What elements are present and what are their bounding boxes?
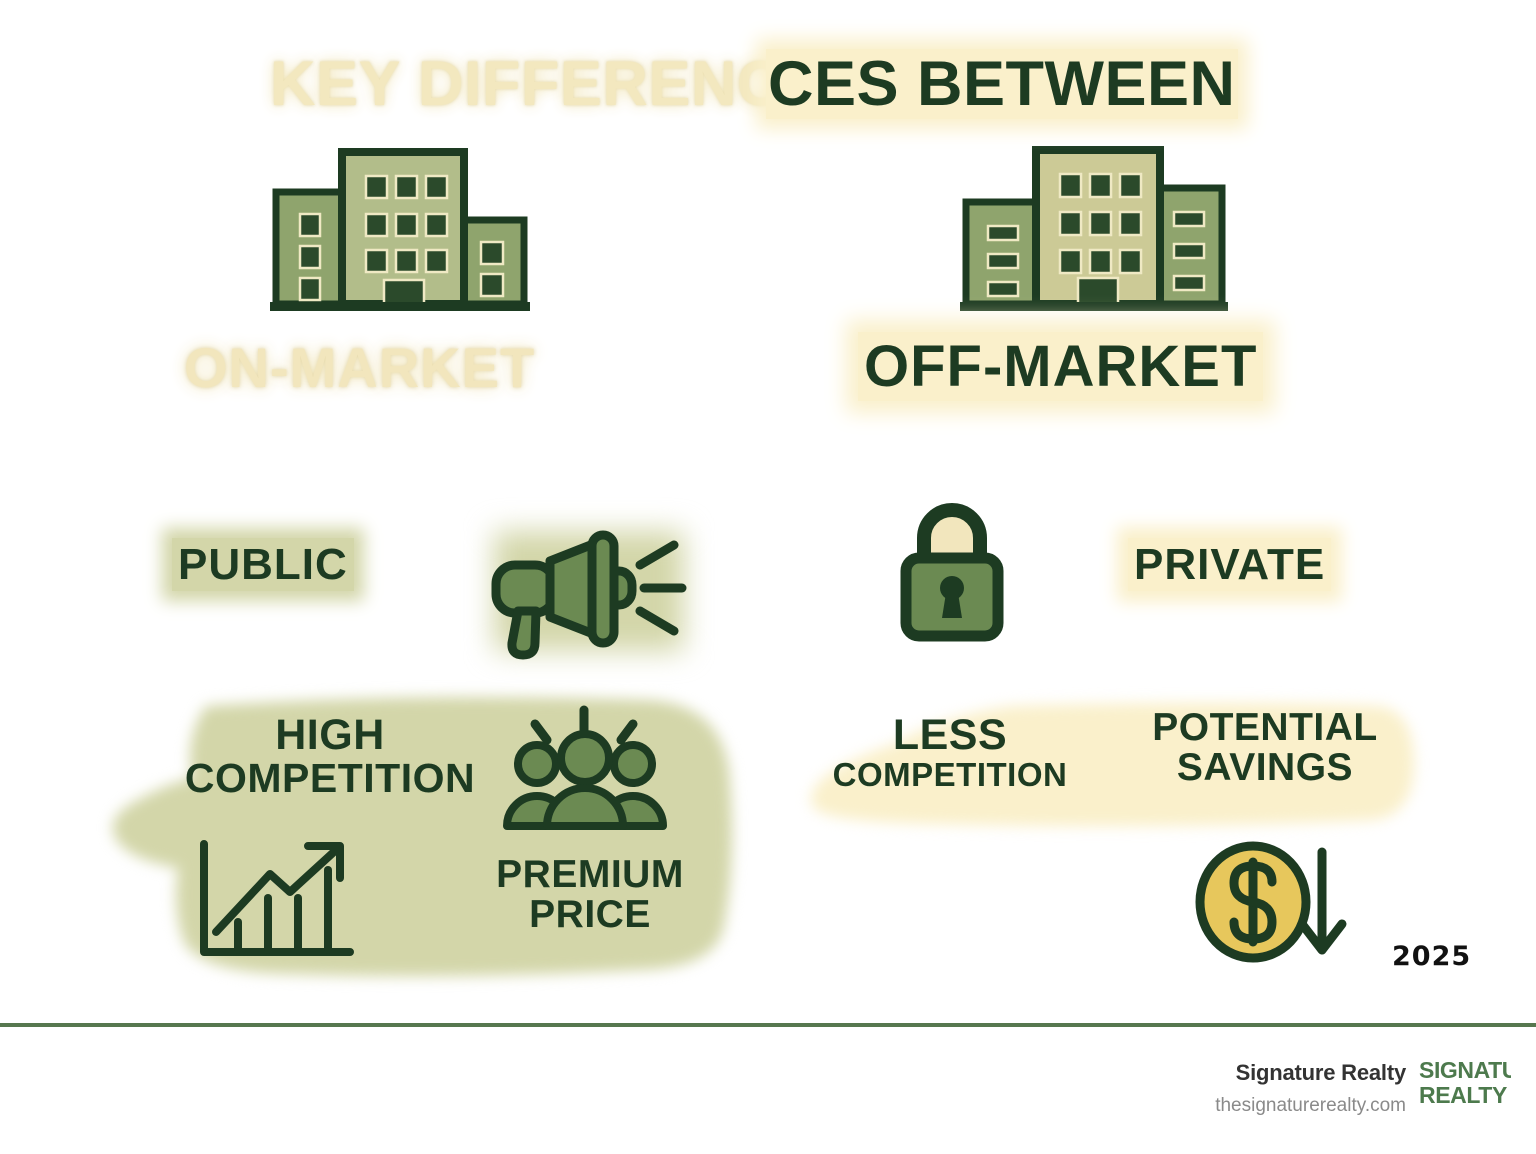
- less-competition-label: LESS COMPETITION: [800, 714, 1100, 792]
- title-dark-layer: CES BETWEEN: [766, 44, 1536, 124]
- public-label-text: PUBLIC: [172, 538, 354, 591]
- potential-savings-line1: POTENTIAL: [1110, 708, 1420, 748]
- megaphone-icon: [488, 527, 688, 662]
- title-dark-text: CES BETWEEN: [766, 49, 1238, 119]
- off-market-heading: OFF-MARKET: [858, 338, 1263, 396]
- high-competition-label: HIGH COMPETITION: [100, 714, 560, 800]
- potential-savings-line2: SAVINGS: [1110, 748, 1420, 788]
- high-competition-line1: HIGH: [100, 714, 560, 758]
- premium-price-label: PREMIUM PRICE: [455, 855, 725, 935]
- signature-realty-logo: SIGNATU REALTY: [1419, 1058, 1511, 1120]
- footer-website-url[interactable]: thesignaturerealty.com: [1120, 1095, 1406, 1117]
- padlock-icon: [892, 496, 1012, 644]
- potential-savings-label: POTENTIAL SAVINGS: [1110, 708, 1420, 788]
- footer-brand-name: Signature Realty: [1190, 1060, 1406, 1086]
- premium-price-line1: PREMIUM: [455, 855, 725, 895]
- private-label: PRIVATE: [1128, 543, 1331, 587]
- high-competition-line2: COMPETITION: [100, 758, 560, 800]
- dollar-coin-down-arrow-icon: [1196, 842, 1351, 967]
- rising-bar-chart-icon: [190, 838, 360, 966]
- logo-line-1: SIGNATU: [1419, 1058, 1511, 1083]
- year-badge: 2025: [1392, 941, 1471, 972]
- people-group-icon: [505, 702, 665, 837]
- less-competition-line1: LESS: [800, 714, 1100, 758]
- on-market-heading: ON-MARKET: [184, 340, 535, 396]
- less-competition-line2: COMPETITION: [800, 758, 1100, 792]
- premium-price-line2: PRICE: [455, 895, 725, 935]
- footer-bar: [0, 1027, 1536, 1154]
- off-market-heading-text: OFF-MARKET: [858, 332, 1263, 401]
- private-label-text: PRIVATE: [1128, 538, 1331, 591]
- office-building-icon-right: [960, 140, 1228, 315]
- logo-line-2: REALTY: [1419, 1083, 1511, 1108]
- office-building-icon-left: [270, 140, 530, 315]
- public-label: PUBLIC: [172, 543, 354, 587]
- infographic-canvas: KEY DIFFERENCES BETWEEN CES BETWEEN: [0, 0, 1536, 1154]
